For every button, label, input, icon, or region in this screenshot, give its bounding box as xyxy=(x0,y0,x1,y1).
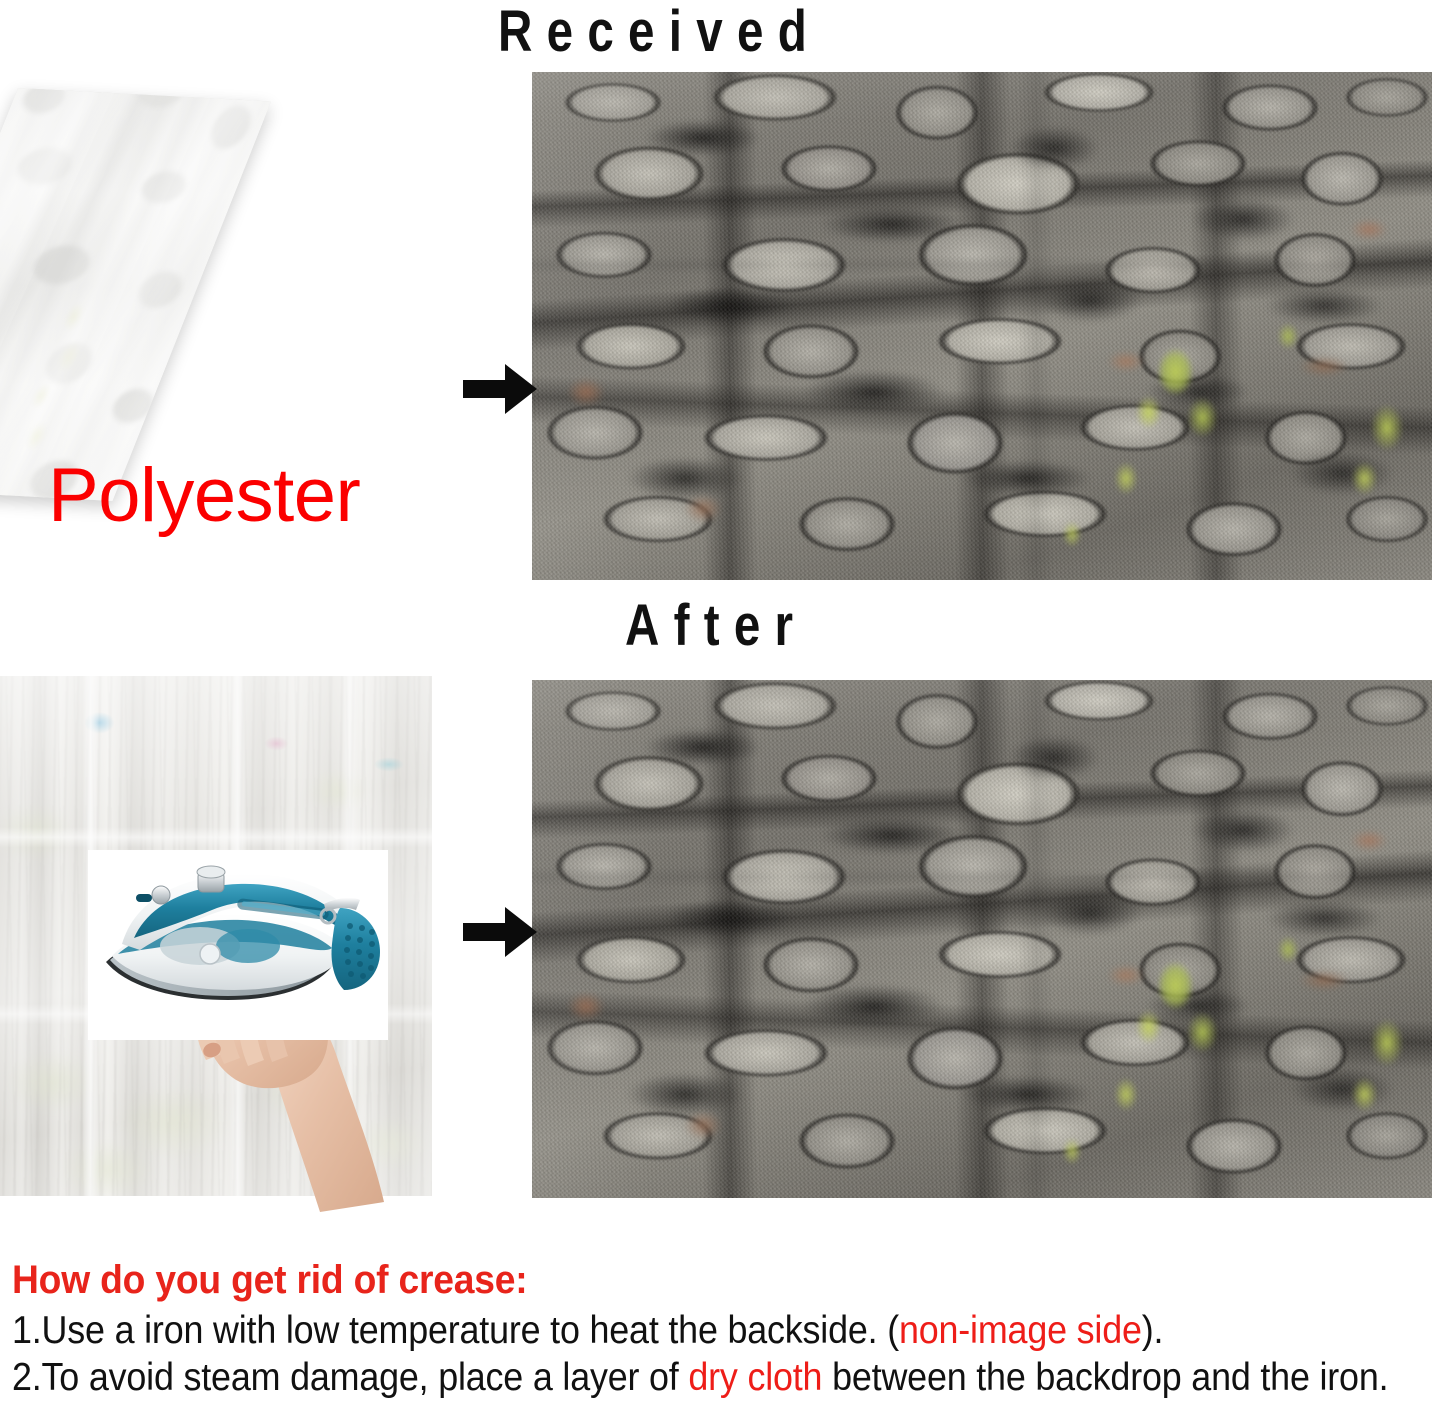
received-section-title: Received xyxy=(498,2,821,62)
instruction-2-prefix: 2.To avoid steam damage, place a layer o… xyxy=(12,1356,688,1399)
polyester-material-label: Polyester xyxy=(48,455,360,537)
after-rock-backdrop-photo xyxy=(532,680,1432,1198)
fabric-sheen-overlay xyxy=(0,88,271,501)
care-instructions-block: How do you get rid of crease: 1.Use a ir… xyxy=(12,1258,1432,1400)
rock-seam-artifacts xyxy=(532,680,1432,1198)
steam-iron-photo-card xyxy=(88,850,388,1040)
steam-iron-icon xyxy=(88,850,388,1040)
instruction-1-suffix: ). xyxy=(1142,1309,1164,1352)
received-rock-backdrop-photo xyxy=(532,72,1432,580)
instruction-1-prefix: 1.Use a iron with low temperature to hea… xyxy=(12,1309,899,1352)
after-section-title: After xyxy=(625,596,807,656)
rock-seam-artifacts xyxy=(532,72,1432,580)
instruction-2-highlight: dry cloth xyxy=(688,1356,822,1399)
instructions-heading: How do you get rid of crease: xyxy=(12,1258,1333,1302)
instruction-line-1: 1.Use a iron with low temperature to hea… xyxy=(12,1308,1318,1353)
instruction-line-2: 2.To avoid steam damage, place a layer o… xyxy=(12,1355,1318,1400)
arrow-right-icon xyxy=(461,903,539,961)
arrow-right-icon xyxy=(461,360,539,418)
instruction-2-suffix: between the backdrop and the iron. xyxy=(822,1356,1388,1399)
folded-polyester-fabric-image xyxy=(0,88,271,501)
instruction-1-highlight: non-image side xyxy=(899,1309,1142,1352)
